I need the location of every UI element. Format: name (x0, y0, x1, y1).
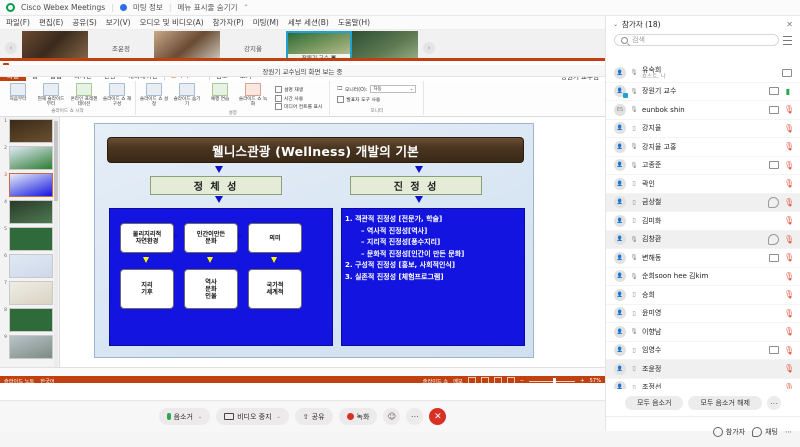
custom-show-icon (109, 83, 125, 96)
muted-icon: 🎙 (784, 179, 792, 188)
ribbon-button-present-online[interactable]: 온라인 프레젠테이션 (69, 83, 99, 107)
video-status-icon (782, 69, 792, 77)
muted-icon: 🎙 (784, 327, 792, 336)
ribbon-button-label: 현재 슬라이드부터 (36, 97, 66, 107)
arrow-right-icon: ▶ (174, 233, 179, 240)
avatar: 👤 (614, 381, 626, 389)
participant-role: 호스트, 나 (642, 74, 777, 80)
filmstrip-next-button[interactable]: › (418, 42, 440, 54)
participant-name: 장원기 교수 (642, 87, 764, 95)
list-item: 1. 객관적 진정성 [전문가, 학술] (345, 214, 523, 226)
chevron-right-icon: › (423, 42, 435, 54)
list-item[interactable]: 👤 🎙 장원기 교수 ▮ (606, 83, 800, 102)
ppt-ribbon: 처음부터 현재 슬라이드부터 온라인 프레젠테이션 슬라이드 쇼 재구성 (0, 81, 605, 117)
mic-status-icon: 🎙 (631, 328, 637, 335)
meeting-info-icon (120, 4, 127, 11)
ribbon-button-setup-show[interactable]: 슬라이드 쇼 설정 (139, 83, 169, 107)
share-label: 공유 (312, 412, 325, 422)
authenticity-list: 1. 객관적 진정성 [전문가, 학술] – 역사적 진정성[역사] – 지리적… (345, 214, 523, 314)
hide-slide-icon (179, 83, 195, 96)
participant-name: 김창환 (642, 235, 763, 243)
muted-icon: 🎙 (784, 235, 792, 244)
result-box-geography-climate: 지리 기후 (120, 269, 174, 309)
mic-status-icon: ▯ (631, 365, 637, 372)
menu-item-help[interactable]: 도움말(H) (338, 17, 370, 28)
slide-thumbnail-image (9, 281, 53, 305)
menu-item-view[interactable]: 보기(V) (106, 17, 131, 28)
mic-active-icon: ▮ (784, 87, 792, 96)
ribbon-button-hide-slide[interactable]: 슬라이드 숨기기 (172, 83, 202, 107)
presenter-badge-icon (623, 93, 628, 98)
list-item: – 문화적 진정성[인간이 만든 문화] (345, 249, 523, 261)
checkbox-icon (275, 86, 282, 93)
slide-thumbnail-image (9, 200, 53, 224)
participants-toggle-label: 참가자 (726, 427, 745, 437)
panel-more-button[interactable]: ⋯ (785, 428, 792, 436)
mic-status-icon: 🎙 (631, 273, 637, 280)
avatar: 👤 (614, 85, 626, 97)
menu-item-audio-video[interactable]: 오디오 및 비디오(A) (140, 17, 204, 28)
list-item[interactable]: ES 🎙 eunbok shin 🎙 (606, 101, 800, 120)
stop-video-button[interactable]: 비디오 중지 ⌄ (216, 408, 289, 425)
result-box-national-global: 국가적 세계적 (248, 269, 302, 309)
muted-icon: 🎙 (784, 124, 792, 133)
list-item[interactable]: 👤 🎙 순희soon hee 김kim 🎙 (606, 268, 800, 287)
participants-list[interactable]: 👤 🎙 유숙희 호스트, 나 👤 🎙 장원기 교수 ▮ ES 🎙 eunbok … (606, 64, 800, 389)
list-item: 3. 실존적 진정성 [체험프로그램] (345, 272, 523, 284)
list-item[interactable]: 👤 ▯ 임영수 🎙 (606, 342, 800, 361)
muted-icon: 🎙 (784, 364, 792, 373)
avatar: 👤 (614, 307, 626, 319)
slide-thumbnail[interactable]: 8 (2, 308, 59, 332)
slide-number: 4 (2, 200, 7, 205)
participant-name: 금상철 (642, 198, 763, 206)
chevron-down-icon: ⌄ (410, 87, 414, 92)
app-title: Cisco Webex Meetings (21, 3, 105, 12)
slide-thumbnail-image (9, 173, 53, 197)
checkbox-icon (337, 96, 344, 103)
checkbox-use-timings[interactable]: 시간 사용 (275, 95, 322, 102)
slide-content[interactable]: 웰니스관광 (Wellness) 개발의 기본 정 체 성 진 정 성 물리지리… (94, 123, 534, 358)
ribbon-group-start-slideshow: 처음부터 현재 슬라이드부터 온라인 프레젠테이션 슬라이드 쇼 재구성 (0, 81, 136, 115)
avatar: 👤 (614, 289, 626, 301)
thumbnail-scrollbar[interactable] (54, 119, 58, 367)
list-item: – 역사적 진정성[역사] (345, 226, 523, 238)
view-sorter-button[interactable] (481, 377, 489, 383)
powerpoint-window: 파일 홈 삽입 디자인 전환 애니메이션 슬라이드 쇼 검토 보기 장원기 교수… (0, 58, 605, 383)
participants-search-row: 검색 (614, 33, 792, 47)
avatar: 👤 (614, 326, 626, 338)
ribbon-button-custom-show[interactable]: 슬라이드 쇼 재구성 (102, 83, 132, 107)
slideshow-current-icon (43, 83, 59, 96)
participant-name: 이향남 (642, 328, 779, 336)
more-options-button[interactable]: ⋯ (406, 408, 423, 425)
titlebar-divider: | (111, 3, 114, 12)
participant-name: 승희 (642, 291, 779, 299)
result-line: 역사 (205, 279, 216, 286)
mic-status-icon: ▯ (631, 384, 637, 389)
flow-box-line1: 인간이만든 (197, 231, 225, 238)
ribbon-group-label: 모니터 (371, 108, 384, 115)
participants-toggle[interactable]: 참가자 (713, 427, 745, 437)
checkbox-icon (275, 95, 282, 102)
slide-canvas[interactable]: 웰니스관광 (Wellness) 개발의 기본 정 체 성 진 정 성 물리지리… (60, 117, 605, 367)
flow-box-meaning: 의미 (248, 223, 302, 253)
result-line: 지리 (141, 282, 152, 289)
status-memo-label[interactable]: 메모 (453, 378, 463, 384)
mic-status-icon: ▯ (631, 217, 637, 224)
slide-thumbnail[interactable]: 5 (2, 227, 59, 251)
checkbox-presenter-view[interactable]: 발표자 도구 사용 (337, 96, 416, 103)
setup-show-icon (146, 83, 162, 96)
participant-name: 고종준 (642, 161, 764, 169)
avatar: 👤 (614, 159, 626, 171)
participant-name: 유숙희 (642, 66, 661, 74)
list-item[interactable]: 👤 🎙 고종준 🎙 (606, 157, 800, 176)
webex-meeting-window: Cisco Webex Meetings | 미팅 정보 | 메뉴 표시줄 숨기… (0, 0, 800, 431)
participant-name: 강지율 고홍 (642, 143, 779, 151)
mute-all-button[interactable]: 모두 음소거 (625, 396, 683, 410)
slide-thumbnail-image (9, 335, 53, 359)
camera-icon (224, 413, 234, 420)
view-normal-button[interactable] (468, 377, 476, 383)
monitor-select[interactable]: 자동 ⌄ (370, 85, 416, 93)
mic-status-icon: ▯ (631, 291, 637, 298)
checkbox-label: 설명 재생 (284, 86, 303, 93)
participant-name: 김미화 (642, 217, 779, 225)
list-item[interactable]: 👤 🎙 변해동 🎙 (606, 249, 800, 268)
flow-box-line2: 자연환경 (136, 238, 159, 245)
ribbon-button-rehearse[interactable]: 예행 연습 (205, 83, 235, 102)
participant-name-block: 유숙희 호스트, 나 (642, 66, 777, 80)
slide-number: 7 (2, 281, 7, 286)
ppt-status-bar: 슬라이드 노트 한국어 슬라이드 쇼 메모 − + 57% (0, 376, 605, 383)
avatar: 👤 (614, 344, 626, 356)
participant-name: 곽인 (642, 180, 779, 188)
arrow-down-icon (415, 196, 423, 203)
monitor-row: 🖵 모니터(O): 자동 ⌄ (337, 85, 416, 93)
participants-icon (713, 427, 723, 437)
arrow-down-yellow-icon (207, 257, 213, 263)
zoom-slider[interactable] (529, 381, 575, 382)
ribbon-group-label: 슬라이드 쇼 시작 (51, 108, 84, 115)
slideshow-start-icon (10, 83, 26, 96)
zoom-in-button[interactable]: + (580, 378, 584, 383)
search-input[interactable]: 검색 (614, 34, 779, 46)
ribbon-group-label: 설정 (228, 110, 236, 117)
chevron-left-icon: ‹ (5, 42, 17, 54)
sort-icon[interactable] (783, 36, 792, 45)
result-line: 기후 (141, 289, 152, 296)
stop-video-label: 비디오 중지 (237, 412, 271, 422)
avatar: 👤 (614, 270, 626, 282)
menu-item-file[interactable]: 파일(F) (6, 17, 30, 28)
checkbox-icon (275, 103, 282, 110)
menu-item-edit[interactable]: 편집(E) (39, 17, 63, 28)
monitor-value: 자동 (373, 86, 381, 92)
reactions-button[interactable]: ☺ (383, 408, 400, 425)
result-line: 문화 (205, 286, 216, 293)
chat-toggle[interactable]: 채팅 (752, 427, 778, 437)
mic-status-icon: ▯ (631, 125, 637, 132)
share-button[interactable]: ⇧ 공유 (295, 408, 333, 425)
result-line: 인물 (205, 293, 216, 300)
chat-icon[interactable] (768, 234, 779, 245)
slide-subheading-text: 진 정 성 (394, 178, 439, 193)
participant-name: 조윤정 (642, 365, 779, 373)
participants-more-button[interactable]: ⋯ (767, 396, 781, 410)
sharing-banner: 장원기 교수님의 화면 보는 중 (0, 65, 605, 77)
mic-status-icon: 🎙 (631, 69, 637, 76)
filmstrip-prev-button[interactable]: ‹ (0, 42, 22, 54)
slide-thumbnail[interactable]: 1 (2, 119, 59, 143)
mic-status-icon: ▯ (631, 180, 637, 187)
slide-thumbnail-image (9, 254, 53, 278)
list-item[interactable]: 👤 🎙 김창환 🎙 (606, 231, 800, 250)
muted-icon: 🎙 (784, 272, 792, 281)
flow-box-line1: 물리지리적 (133, 231, 161, 238)
slide-number: 9 (2, 335, 7, 340)
ribbon-group-items: 처음부터 현재 슬라이드부터 온라인 프레젠테이션 슬라이드 쇼 재구성 (3, 81, 132, 107)
participant-name: 윤미영 (642, 309, 779, 317)
mic-status-icon: 🎙 (631, 254, 637, 261)
status-slideshow-label[interactable]: 슬라이드 쇼 (423, 378, 449, 384)
slide-thumbnail[interactable]: 9 (2, 335, 59, 359)
search-placeholder: 검색 (632, 35, 645, 45)
search-icon (621, 37, 628, 44)
avatar: 👤 (614, 252, 626, 264)
muted-icon: 🎙 (784, 309, 792, 318)
checkbox-label: 시간 사용 (284, 95, 303, 102)
avatar: 👤 (614, 141, 626, 153)
online-present-icon (76, 83, 92, 96)
slide-thumbnail-image (9, 146, 53, 170)
status-notes-label[interactable]: 슬라이드 노트 (4, 378, 34, 384)
slide-number: 2 (2, 146, 7, 151)
menu-item-meeting[interactable]: 미팅(M) (253, 17, 279, 28)
webex-control-bar: 음소거 ⌄ 비디오 중지 ⌄ ⇧ 공유 녹화 ☺ ⋯ ✕ (0, 400, 605, 432)
muted-icon: 🎙 (784, 346, 792, 355)
video-status-icon (769, 161, 779, 169)
muted-icon: 🎙 (784, 253, 792, 262)
menu-item-breakout[interactable]: 세부 세션(B) (288, 17, 329, 28)
slide-title-banner: 웰니스관광 (Wellness) 개발의 기본 (107, 137, 524, 163)
avatar: 👤 (614, 122, 626, 134)
arrow-down-icon (215, 196, 223, 203)
muted-icon: 🎙 (784, 383, 792, 389)
participant-name: 변해동 (642, 254, 764, 262)
list-item[interactable]: 👤 ▯ 조윤정 🎙 (606, 360, 800, 379)
video-status-icon (769, 87, 779, 95)
zoom-out-button[interactable]: − (520, 378, 524, 383)
status-right-group: 슬라이드 쇼 메모 − + 57% (423, 377, 601, 383)
mic-status-icon: 🎙 (631, 143, 637, 150)
muted-icon: 🎙 (784, 105, 792, 114)
arrow-down-icon (215, 166, 223, 173)
avatar: 👤 (614, 178, 626, 190)
share-icon: ⇧ (303, 413, 309, 421)
muted-icon: 🎙 (784, 198, 792, 207)
chat-icon[interactable] (768, 197, 779, 208)
slide-thumbnail-current[interactable]: 3 (2, 173, 59, 197)
ribbon-group-monitor: 🖵 모니터(O): 자동 ⌄ 발표자 도구 사용 모니터 (330, 81, 424, 115)
list-item[interactable]: 👤 ▯ 곽인 🎙 (606, 175, 800, 194)
checkbox-show-media-controls[interactable]: 미디어 컨트롤 표시 (275, 103, 322, 110)
participant-name: 강지율 (642, 124, 779, 132)
slide-thumbnail[interactable]: 2 (2, 146, 59, 170)
arrow-down-yellow-icon (143, 257, 149, 263)
chat-icon (752, 427, 762, 437)
titlebar-divider-2: | (169, 3, 172, 12)
mute-button[interactable]: 음소거 ⌄ (159, 408, 211, 425)
list-item[interactable]: 👤 ▯ 승희 🎙 (606, 286, 800, 305)
flow-box-line1: 의미 (269, 235, 280, 242)
list-item[interactable]: 👤 ▯ 강지율 🎙 (606, 120, 800, 139)
slide-subheading-text: 정 체 성 (194, 178, 239, 193)
chevron-up-icon[interactable]: ⌃ (244, 4, 249, 11)
close-icon[interactable]: ✕ (786, 20, 793, 29)
checkbox-play-narrations[interactable]: 설명 재생 (275, 86, 322, 93)
list-item[interactable]: 👤 🎙 이향남 🎙 (606, 323, 800, 342)
ribbon-button-label: 슬라이드 쇼 설정 (139, 97, 169, 107)
menu-item-participants[interactable]: 참가자(P) (213, 17, 244, 28)
chevron-down-icon[interactable]: ⌄ (198, 414, 202, 420)
leave-meeting-button[interactable]: ✕ (429, 408, 446, 425)
mic-status-icon: ▯ (631, 347, 637, 354)
muted-icon: 🎙 (784, 216, 792, 225)
slide-thumbnail[interactable]: 7 (2, 281, 59, 305)
muted-icon: 🎙 (784, 142, 792, 151)
ribbon-button-from-beginning[interactable]: 처음부터 (3, 83, 33, 102)
record-label: 녹화 (357, 412, 370, 422)
result-line: 국가적 (266, 282, 283, 289)
slide-subheading-authenticity: 진 정 성 (350, 176, 482, 195)
avatar: 👤 (614, 196, 626, 208)
flow-box-human-culture: 인간이만든 문화 (184, 223, 238, 253)
chevron-down-icon[interactable]: ⌄ (277, 414, 281, 420)
ribbon-button-label: 슬라이드 쇼 재구성 (102, 97, 132, 107)
monitor-label: 모니터(O): (345, 86, 367, 93)
ribbon-group-items: 슬라이드 쇼 설정 슬라이드 숨기기 예행 연습 슬라이드 쇼 녹화 (139, 81, 326, 110)
unmute-all-button[interactable]: 모두 음소거 해제 (688, 396, 762, 410)
checkbox-label: 미디어 컨트롤 표시 (284, 103, 322, 110)
slide-subheading-identity: 정 체 성 (150, 176, 282, 195)
muted-icon: 🎙 (784, 290, 792, 299)
zoom-level: 57% (589, 378, 601, 383)
record-icon (347, 413, 354, 420)
ribbon-button-label: 온라인 프레젠테이션 (69, 97, 99, 107)
participant-name: 임영수 (642, 346, 764, 354)
record-show-icon (245, 83, 261, 96)
flow-box-physical-geography: 물리지리적 자연환경 (120, 223, 174, 253)
zoom-slider-handle[interactable] (553, 378, 556, 383)
video-status-icon (769, 346, 779, 354)
record-button[interactable]: 녹화 (339, 408, 378, 425)
slide-number: 8 (2, 308, 7, 313)
participant-name: 조정선 (642, 383, 779, 389)
mic-status-icon: 🎙 (631, 88, 637, 95)
menu-item-share[interactable]: 공유(S) (72, 17, 96, 28)
view-slideshow-button[interactable] (507, 377, 515, 383)
flow-box-line2: 문화 (205, 238, 216, 245)
slide-thumbnail-image (9, 227, 53, 251)
participants-footer: 모두 음소거 모두 음소거 해제 ⋯ (606, 392, 800, 414)
thumbnail-scrollbar-thumb[interactable] (54, 121, 58, 201)
view-reading-button[interactable] (494, 377, 502, 383)
participants-panel-header: ⌄ 참가자 (18) ✕ (606, 16, 800, 33)
list-item[interactable]: 👤 🎙 강지율 고홍 🎙 (606, 138, 800, 157)
avatar: 👤 (614, 215, 626, 227)
list-item[interactable]: 👤 🎙 유숙희 호스트, 나 (606, 64, 800, 83)
mic-status-icon: 🎙 (631, 162, 637, 169)
ribbon-button-record-show[interactable]: 슬라이드 쇼 녹화 (238, 83, 268, 107)
mic-status-icon: 🎙 (631, 236, 637, 243)
chevron-down-icon[interactable]: ⌄ (613, 21, 618, 28)
slide-left-panel: 물리지리적 자연환경 ▶ 인간이만든 문화 ▶ 의미 (109, 208, 333, 346)
slide-number: 6 (2, 254, 7, 259)
avatar: 👤 (614, 233, 626, 245)
status-language-label[interactable]: 한국어 (40, 378, 54, 384)
avatar-initials: ES (614, 104, 626, 116)
hide-menubar-label[interactable]: 메뉴 표시줄 숨기기 (178, 2, 238, 13)
ribbon-button-label: 처음부터 (10, 97, 27, 102)
rehearse-icon (212, 83, 228, 96)
webex-titlebar: Cisco Webex Meetings | 미팅 정보 | 메뉴 표시줄 숨기… (0, 0, 800, 16)
slide-number: 5 (2, 227, 7, 232)
monitor-icon: 🖵 (337, 86, 342, 92)
slide-thumbnail-pane[interactable]: 1 2 3 4 5 6 7 (0, 117, 60, 367)
ribbon-button-from-current[interactable]: 현재 슬라이드부터 (36, 83, 66, 107)
slide-title-text: 웰니스관광 (Wellness) 개발의 기본 (212, 141, 419, 160)
meeting-info-label[interactable]: 미팅 정보 (133, 2, 163, 13)
list-item[interactable]: 👤 ▯ 조정선 🎙 (606, 379, 800, 390)
arrow-down-icon (415, 166, 423, 173)
participants-title: 참가자 (18) (622, 19, 660, 30)
mic-status-icon: ▯ (631, 199, 637, 206)
slide-thumbnail[interactable]: 4 (2, 200, 59, 224)
panel-bottom-bar: 참가자 채팅 ⋯ (606, 416, 800, 447)
mute-label: 음소거 (174, 412, 193, 422)
avatar: 👤 (614, 363, 626, 375)
slide-thumbnail-image (9, 308, 53, 332)
list-item: 2. 구성적 진정성 [홍보, 사회적인식] (345, 260, 523, 272)
list-item[interactable]: 👤 ▯ 금상철 🎙 (606, 194, 800, 213)
chat-toggle-label: 채팅 (765, 427, 778, 437)
video-status-icon (769, 106, 779, 114)
monitor-controls: 🖵 모니터(O): 자동 ⌄ 발표자 도구 사용 (333, 81, 420, 103)
participant-name: eunbok shin (642, 106, 764, 114)
list-item[interactable]: 👤 ▯ 윤미영 🎙 (606, 305, 800, 324)
ribbon-button-label: 슬라이드 숨기기 (172, 97, 202, 107)
avatar: 👤 (614, 67, 626, 79)
slide-number: 1 (2, 119, 7, 124)
slide-thumbnail-image (9, 119, 53, 143)
webex-logo-icon (6, 3, 15, 12)
ribbon-group-setup: 슬라이드 쇼 설정 슬라이드 숨기기 예행 연습 슬라이드 쇼 녹화 (136, 81, 330, 115)
list-item[interactable]: 👤 ▯ 김미화 🎙 (606, 212, 800, 231)
muted-icon: 🎙 (784, 161, 792, 170)
participant-name: 순희soon hee 김kim (642, 272, 779, 280)
slide-thumbnail[interactable]: 6 (2, 254, 59, 278)
result-box-history-culture-people: 역사 문화 인물 (184, 269, 238, 309)
video-status-icon (769, 254, 779, 262)
arrow-down-yellow-icon (271, 257, 277, 263)
participants-panel: ⌄ 참가자 (18) ✕ 검색 👤 🎙 유숙희 호스트, 나 👤 (605, 16, 800, 431)
checkbox-label: 발표자 도구 사용 (346, 96, 380, 103)
mic-status-icon: ▯ (631, 310, 637, 317)
mic-status-icon: 🎙 (631, 106, 637, 113)
arrow-right-icon: ▶ (238, 233, 243, 240)
